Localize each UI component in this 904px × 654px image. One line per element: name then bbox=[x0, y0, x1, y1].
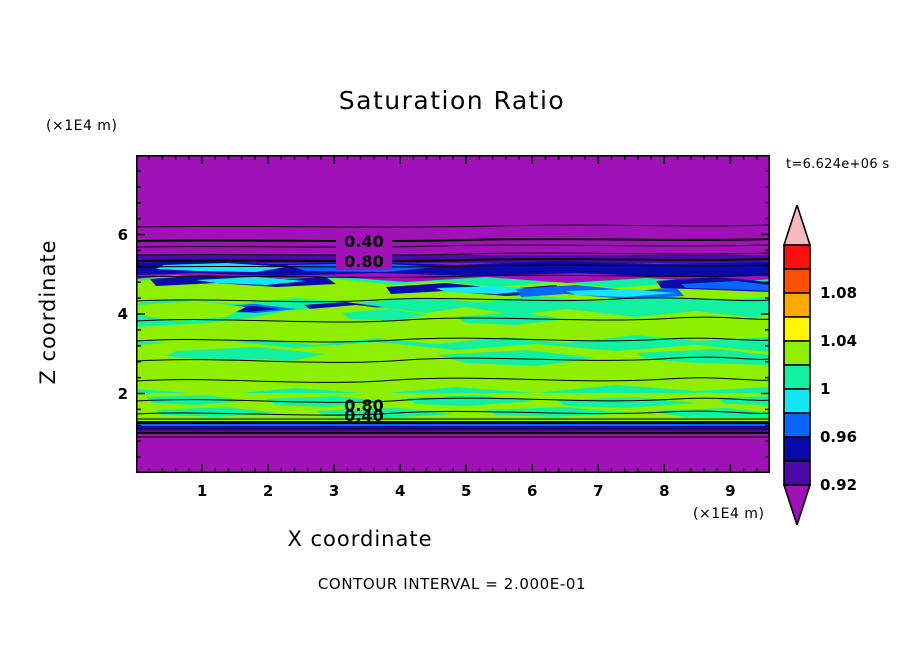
x-tick-label: 3 bbox=[319, 482, 349, 500]
y-tick-label: 2 bbox=[102, 385, 128, 403]
y-tick-label: 6 bbox=[102, 226, 128, 244]
x-tick-label: 1 bbox=[187, 482, 217, 500]
x-tick-label: 2 bbox=[253, 482, 283, 500]
x-tick-label: 9 bbox=[715, 482, 745, 500]
x-tick-label: 8 bbox=[649, 482, 679, 500]
contour-label-040-lower: 0.40 bbox=[344, 406, 383, 425]
colorbar-tick-label: 0.92 bbox=[820, 476, 857, 494]
contour-label-080-upper: 0.80 bbox=[344, 252, 383, 271]
x-tick-label: 6 bbox=[517, 482, 547, 500]
y-axis-units: (×1E4 m) bbox=[46, 118, 117, 134]
colorbar-tick-label: 1.04 bbox=[820, 332, 857, 350]
x-tick-label: 4 bbox=[385, 482, 415, 500]
y-axis-title: Z coordinate bbox=[36, 222, 60, 402]
x-axis-title: X coordinate bbox=[0, 527, 720, 551]
x-tick-label: 7 bbox=[583, 482, 613, 500]
contour-plot[interactable]: 0.40 0.80 0.80 0.40 bbox=[136, 155, 770, 473]
colorbar-tick-label: 1.08 bbox=[820, 284, 857, 302]
x-tick-label: 5 bbox=[451, 482, 481, 500]
timestamp-label: t=6.624e+06 s bbox=[786, 157, 889, 172]
y-tick-label: 4 bbox=[102, 305, 128, 323]
contour-label-040-upper: 0.40 bbox=[344, 232, 383, 251]
page-title: Saturation Ratio bbox=[0, 86, 904, 115]
x-axis-units: (×1E4 m) bbox=[693, 506, 764, 522]
colorbar-tick-label: 0.96 bbox=[820, 428, 857, 446]
contour-interval-caption: CONTOUR INTERVAL = 2.000E-01 bbox=[0, 575, 904, 593]
colorbar-tick-label: 1 bbox=[820, 380, 830, 398]
colorbar[interactable] bbox=[780, 205, 814, 525]
